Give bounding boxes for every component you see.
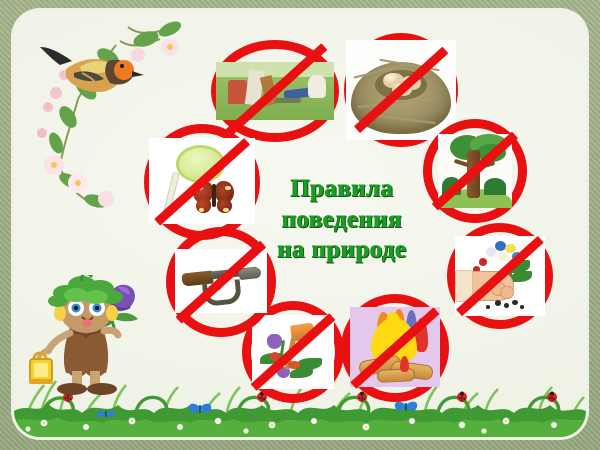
page-title: Правила поведения на природе <box>252 174 432 266</box>
lantern-icon <box>29 349 53 384</box>
bird-icon <box>40 47 144 92</box>
sign-no-flower-picking <box>447 223 553 329</box>
sign-no-tree-damage <box>423 119 527 223</box>
title-line-2: поведения <box>252 205 432 236</box>
forest-sprite-with-lantern-and-bluebell <box>20 275 152 401</box>
sign-no-campfire <box>341 294 449 402</box>
title-line-3: на природе <box>252 235 432 266</box>
poster: Правила поведения на природе <box>0 0 600 450</box>
sign-no-insect-catching <box>144 124 260 240</box>
poster-panel: Правила поведения на природе <box>14 11 586 437</box>
title-line-1: Правила <box>252 174 432 205</box>
